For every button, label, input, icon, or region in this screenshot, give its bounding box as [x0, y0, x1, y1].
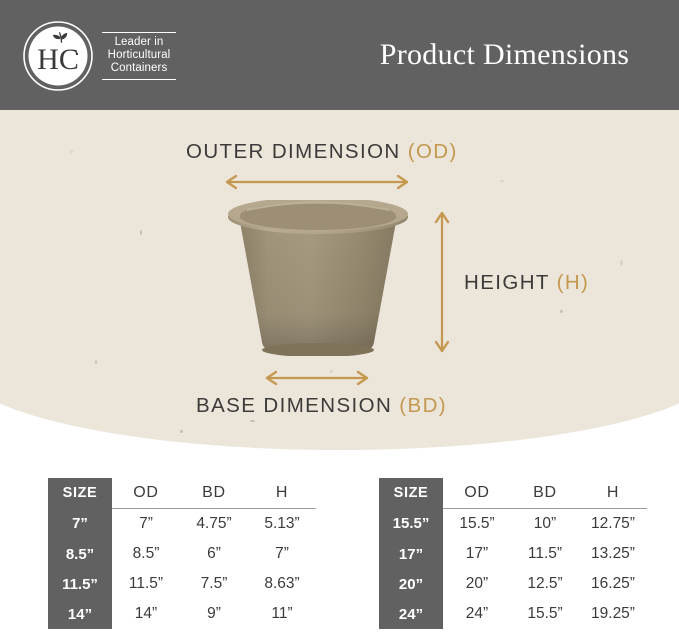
cell-od: 15.5” — [443, 509, 511, 540]
paper-speck — [95, 360, 97, 364]
paper-speck — [500, 180, 504, 182]
table-row: 11.5” 11.5” 7.5” 8.63” — [48, 569, 316, 599]
paper-speck — [560, 310, 563, 313]
cell-size: 7” — [48, 509, 112, 540]
outer-dimension-label: OUTER DIMENSION (OD) — [186, 140, 458, 164]
paper-speck — [250, 420, 255, 422]
cell-bd: 4.75” — [180, 509, 248, 540]
tagline-line-3: Containers — [108, 62, 171, 75]
base-dimension-arrow-icon — [262, 371, 372, 385]
cell-h: 16.25” — [579, 569, 647, 599]
table-header-row: SIZE OD BD H — [379, 478, 647, 509]
cell-h: 19.25” — [579, 599, 647, 629]
table-header-row: SIZE OD BD H — [48, 478, 316, 509]
brand-tagline: Leader in Horticultural Containers — [102, 29, 176, 83]
cell-h: 13.25” — [579, 539, 647, 569]
base-dimension-abbr: (BD) — [399, 394, 447, 417]
paper-speck — [140, 230, 142, 235]
column-header-size: SIZE — [48, 478, 112, 509]
dimensions-table-large: SIZE OD BD H 15.5” 15.5” 10” 12.75” 17” … — [379, 478, 647, 628]
cell-bd: 11.5” — [511, 539, 579, 569]
cell-od: 8.5” — [112, 539, 180, 569]
table-row: 17” 17” 11.5” 13.25” — [379, 539, 647, 569]
cell-size: 17” — [379, 539, 443, 569]
cell-h: 11” — [248, 599, 316, 629]
cell-bd: 6” — [180, 539, 248, 569]
table-row: 24” 24” 15.5” 19.25” — [379, 599, 647, 629]
cell-bd: 7.5” — [180, 569, 248, 599]
cell-bd: 15.5” — [511, 599, 579, 629]
column-header-od: OD — [112, 478, 180, 509]
hc-circle-logo-icon: HC — [22, 20, 94, 92]
cell-od: 14” — [112, 599, 180, 629]
table-row: 8.5” 8.5” 6” 7” — [48, 539, 316, 569]
column-header-bd: BD — [511, 478, 579, 509]
column-header-bd: BD — [180, 478, 248, 509]
paper-speck — [180, 430, 183, 433]
cell-size: 20” — [379, 569, 443, 599]
cell-size: 24” — [379, 599, 443, 629]
height-abbr: (H) — [557, 271, 590, 294]
brand-logo: HC Leader in Horticultural Containers — [22, 19, 202, 93]
cell-h: 5.13” — [248, 509, 316, 540]
cell-bd: 9” — [180, 599, 248, 629]
column-header-od: OD — [443, 478, 511, 509]
cell-h: 7” — [248, 539, 316, 569]
cell-bd: 10” — [511, 509, 579, 540]
column-header-h: H — [248, 478, 316, 509]
height-arrow-icon — [435, 208, 449, 356]
cell-od: 24” — [443, 599, 511, 629]
column-header-size: SIZE — [379, 478, 443, 509]
page-title: Product Dimensions — [330, 0, 679, 110]
cell-size: 14” — [48, 599, 112, 629]
table-row: 15.5” 15.5” 10” 12.75” — [379, 509, 647, 540]
cell-h: 8.63” — [248, 569, 316, 599]
cell-h: 12.75” — [579, 509, 647, 540]
cell-od: 17” — [443, 539, 511, 569]
tagline-line-2: Horticultural — [108, 49, 171, 62]
column-header-h: H — [579, 478, 647, 509]
cell-size: 8.5” — [48, 539, 112, 569]
cell-size: 11.5” — [48, 569, 112, 599]
outer-dimension-text: OUTER DIMENSION — [186, 140, 401, 163]
cell-size: 15.5” — [379, 509, 443, 540]
base-dimension-label: BASE DIMENSION (BD) — [196, 394, 447, 418]
tagline-line-1: Leader in — [108, 36, 171, 49]
dimensions-table-small: SIZE OD BD H 7” 7” 4.75” 5.13” 8.5” 8.5”… — [48, 478, 316, 628]
outer-dimension-arrow-icon — [222, 175, 412, 189]
page-header: HC Leader in Horticultural Containers Pr… — [0, 0, 679, 110]
height-text: HEIGHT — [464, 271, 549, 294]
base-dimension-text: BASE DIMENSION — [196, 394, 392, 417]
cell-bd: 12.5” — [511, 569, 579, 599]
outer-dimension-abbr: (OD) — [408, 140, 458, 163]
paper-speck — [70, 150, 73, 153]
planter-pot-illustration — [227, 200, 409, 356]
paper-speck — [620, 260, 623, 266]
cell-od: 20” — [443, 569, 511, 599]
height-label: HEIGHT (H) — [464, 271, 589, 295]
table-row: 7” 7” 4.75” 5.13” — [48, 509, 316, 540]
tagline-rule-bottom — [102, 79, 176, 80]
cell-od: 7” — [112, 509, 180, 540]
logo-monogram-text: HC — [37, 43, 79, 76]
table-row: 14” 14” 9” 11” — [48, 599, 316, 629]
cell-od: 11.5” — [112, 569, 180, 599]
table-row: 20” 20” 12.5” 16.25” — [379, 569, 647, 599]
